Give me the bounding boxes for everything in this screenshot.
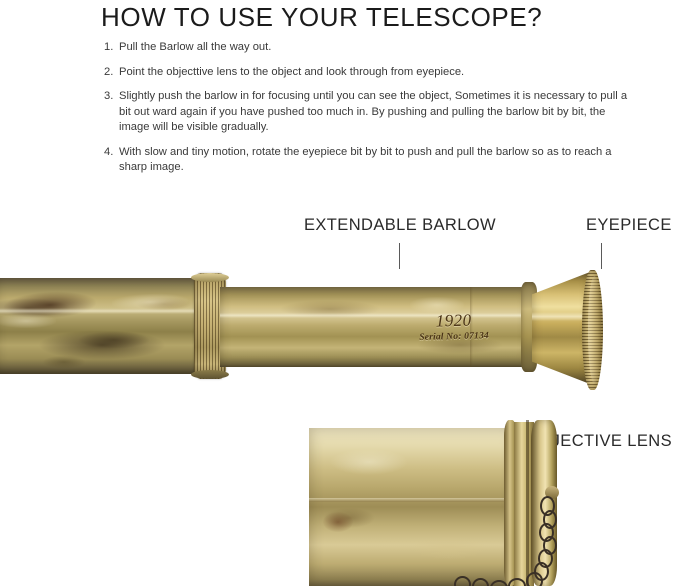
callout-label-extendable-barlow: EXTENDABLE BARLOW [304, 216, 496, 235]
engraving-year: 1920 [419, 311, 489, 330]
telescope-upper-assembly [0, 270, 666, 398]
list-item-number: 1. [104, 40, 119, 56]
chain-link [454, 576, 471, 586]
telescope-instruction-page: HOW TO USE YOUR TELESCOPE? 1. Pull the B… [0, 0, 679, 586]
telescope-objective-assembly [300, 420, 560, 586]
collar-rim-top [191, 273, 229, 282]
telescope-main-barrel [0, 278, 206, 374]
eyepiece-lens-face [588, 276, 601, 384]
telescope-engraving: 1920 Serial No: 07134 [419, 311, 489, 343]
page-title: HOW TO USE YOUR TELESCOPE? [101, 2, 542, 33]
list-item-text: Point the objecttive lens to the object … [119, 65, 634, 81]
patina-mark [323, 512, 353, 532]
list-item-number: 4. [104, 145, 119, 176]
list-item: 1. Pull the Barlow all the way out. [104, 40, 634, 56]
objective-barrel-band [309, 498, 515, 502]
instruction-list: 1. Pull the Barlow all the way out. 2. P… [104, 40, 634, 185]
callout-leader-line-eyepiece [601, 243, 602, 269]
list-item: 3. Slightly push the barlow in for focus… [104, 89, 634, 136]
patina-mark [0, 314, 56, 328]
list-item: 2. Point the objecttive lens to the obje… [104, 65, 634, 81]
chain-link [526, 572, 543, 586]
list-item-number: 2. [104, 65, 119, 81]
list-item-text: Pull the Barlow all the way out. [119, 40, 634, 56]
list-item-number: 3. [104, 89, 119, 136]
list-item: 4. With slow and tiny motion, rotate the… [104, 145, 634, 176]
eyepiece-knurled-rim [582, 270, 603, 390]
patina-mark [38, 330, 166, 360]
callout-label-eyepiece: EYEPIECE [586, 216, 672, 235]
objective-ring-groove [526, 420, 529, 586]
objective-barrel [309, 428, 515, 586]
collar-rim-bottom [191, 370, 229, 379]
list-item-text: With slow and tiny motion, rotate the ey… [119, 145, 634, 176]
list-item-text: Slightly push the barlow in for focusing… [119, 89, 634, 136]
callout-leader-line-barlow [399, 243, 400, 269]
engraving-serial-number: Serial No: 07134 [419, 332, 489, 343]
barrel-highlight [0, 308, 206, 314]
